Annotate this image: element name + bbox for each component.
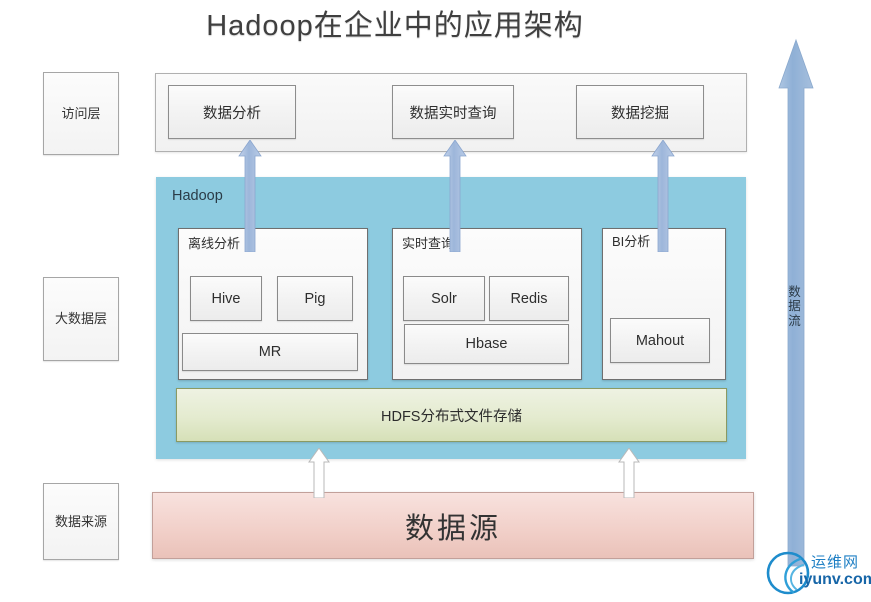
arrow-up-bi-to-mining	[650, 140, 676, 252]
layer-label-bigdata: 大数据层	[43, 277, 119, 361]
arrow-up-offline-to-analysis	[237, 140, 263, 252]
tool-box-hbase: Hbase	[404, 324, 569, 364]
tool-box-redis: Redis	[489, 276, 569, 321]
arrow-up-source-to-hdfs-left	[306, 448, 332, 498]
page-title: Hadoop在企业中的应用架构	[0, 2, 790, 44]
access-box-data-analysis: 数据分析	[168, 85, 296, 139]
access-box-data-mining: 数据挖掘	[576, 85, 704, 139]
tool-box-mahout: Mahout	[610, 318, 710, 363]
tool-box-solr: Solr	[403, 276, 485, 321]
data-source-box: 数据源	[152, 492, 754, 559]
watermark-brand: 运维网	[811, 551, 859, 572]
arrow-up-source-to-hdfs-right	[616, 448, 642, 498]
data-flow-label: 数据流	[784, 285, 806, 328]
panel-title-bi-analysis: BI分析	[612, 231, 650, 250]
hdfs-storage-bar: HDFS分布式文件存储	[176, 388, 727, 442]
tool-box-pig: Pig	[277, 276, 353, 321]
layer-label-access: 访问层	[43, 72, 119, 155]
hadoop-label: Hadoop	[172, 188, 223, 204]
access-box-realtime-query: 数据实时查询	[392, 85, 514, 139]
panel-title-offline-analysis: 离线分析	[188, 233, 240, 252]
watermark-domain: iyunv.com	[799, 571, 871, 589]
tool-box-hive: Hive	[190, 276, 262, 321]
diagram-canvas: Hadoop在企业中的应用架构 访问层 大数据层 数据来源 数据分析 数据实时查…	[0, 0, 871, 602]
arrow-up-realtime-to-query	[442, 140, 468, 252]
tool-box-mr: MR	[182, 333, 358, 371]
layer-label-data-source: 数据来源	[43, 483, 119, 560]
